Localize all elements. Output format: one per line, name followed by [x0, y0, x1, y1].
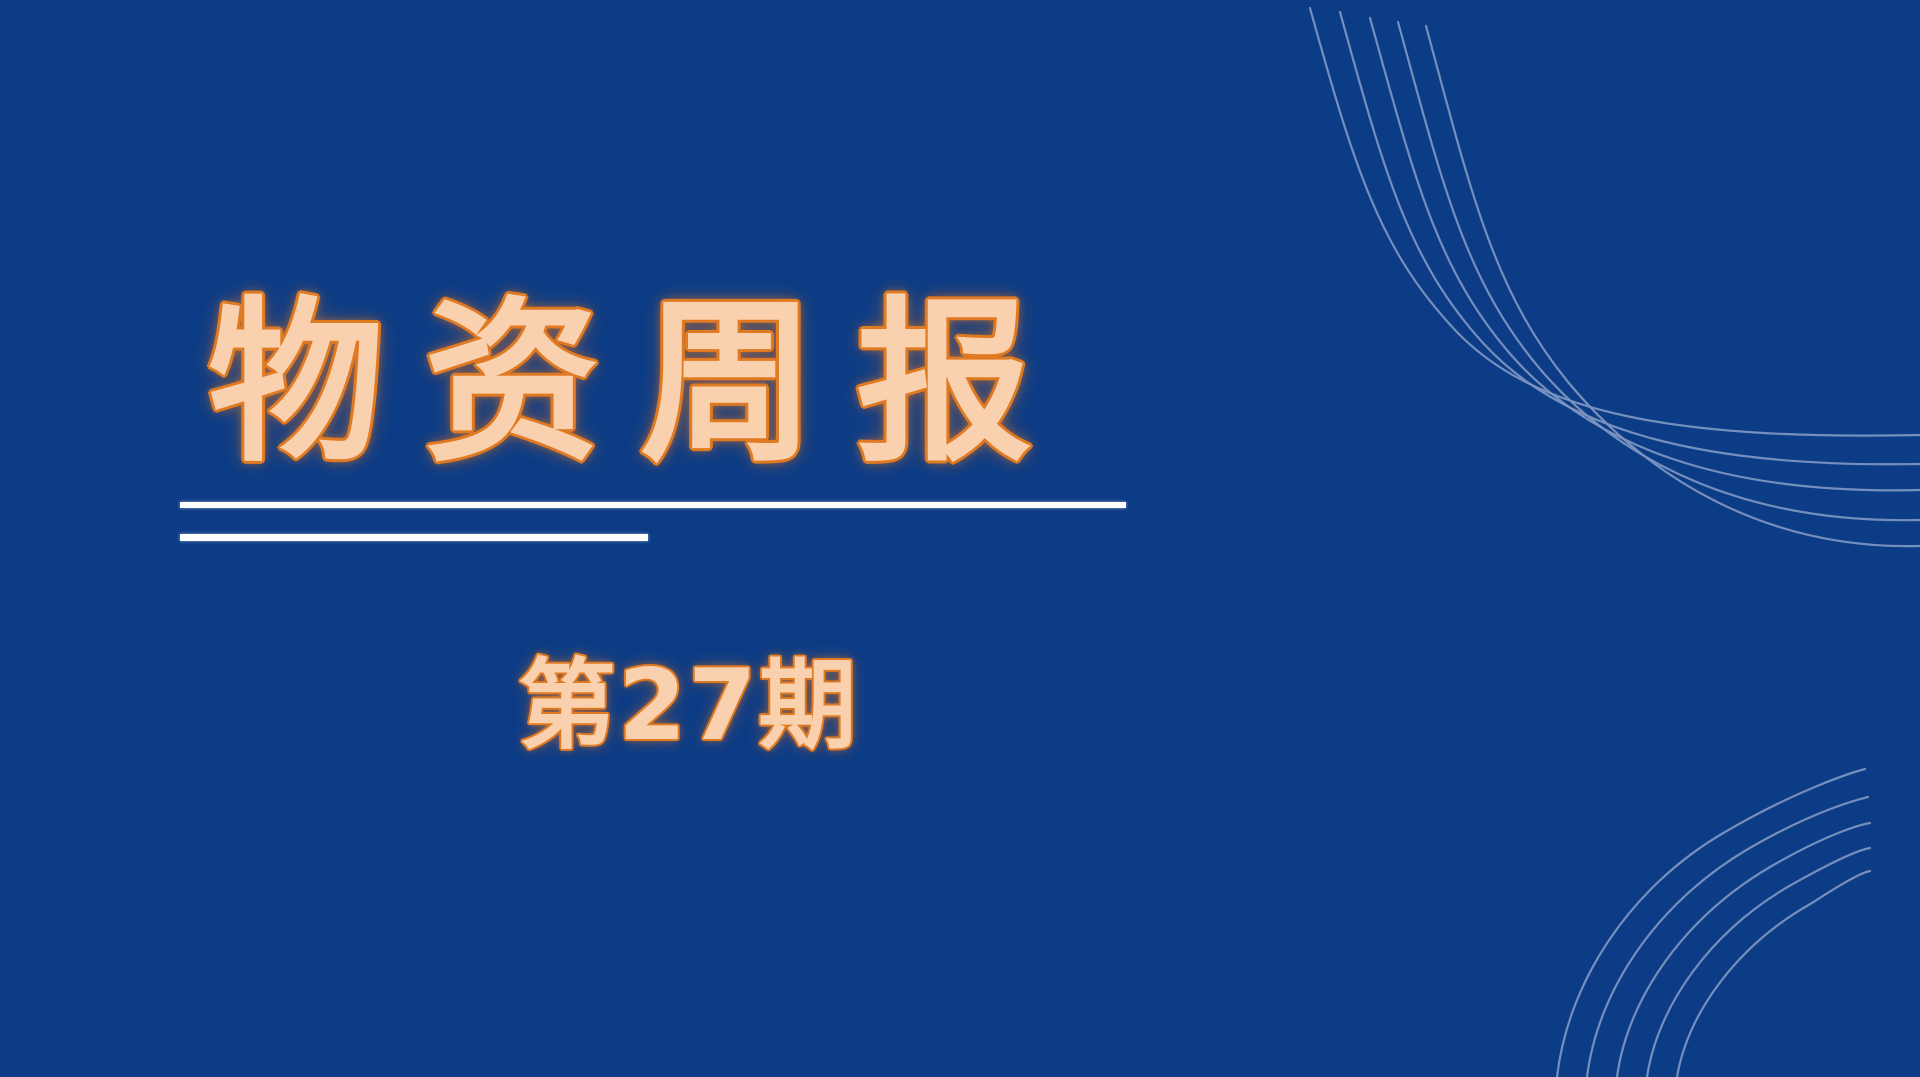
cover-slide: 物资周报 第27期: [0, 0, 1920, 1077]
deco-curve-br-4: [1647, 848, 1870, 1077]
deco-curve-br-1: [1557, 769, 1865, 1077]
deco-curve-br-2: [1587, 797, 1868, 1077]
decorative-curves-top-right: [1280, 0, 1920, 620]
deco-curve-tr-5: [1426, 26, 1920, 546]
deco-curve-tr-4: [1398, 22, 1920, 520]
deco-curve-tr-2: [1340, 12, 1920, 464]
deco-curve-tr-1: [1310, 8, 1920, 436]
deco-curve-br-3: [1617, 823, 1870, 1077]
decorative-curves-bottom-right: [1520, 727, 1920, 1077]
issue-number-label: 第27期: [518, 655, 858, 758]
deco-curve-br-5: [1677, 871, 1870, 1077]
page-title: 物资周报: [180, 296, 1180, 472]
title-block: 物资周报: [180, 296, 1180, 472]
title-underline-long: [180, 502, 1126, 508]
deco-curve-tr-3: [1370, 18, 1920, 490]
title-underline-short: [180, 534, 648, 541]
